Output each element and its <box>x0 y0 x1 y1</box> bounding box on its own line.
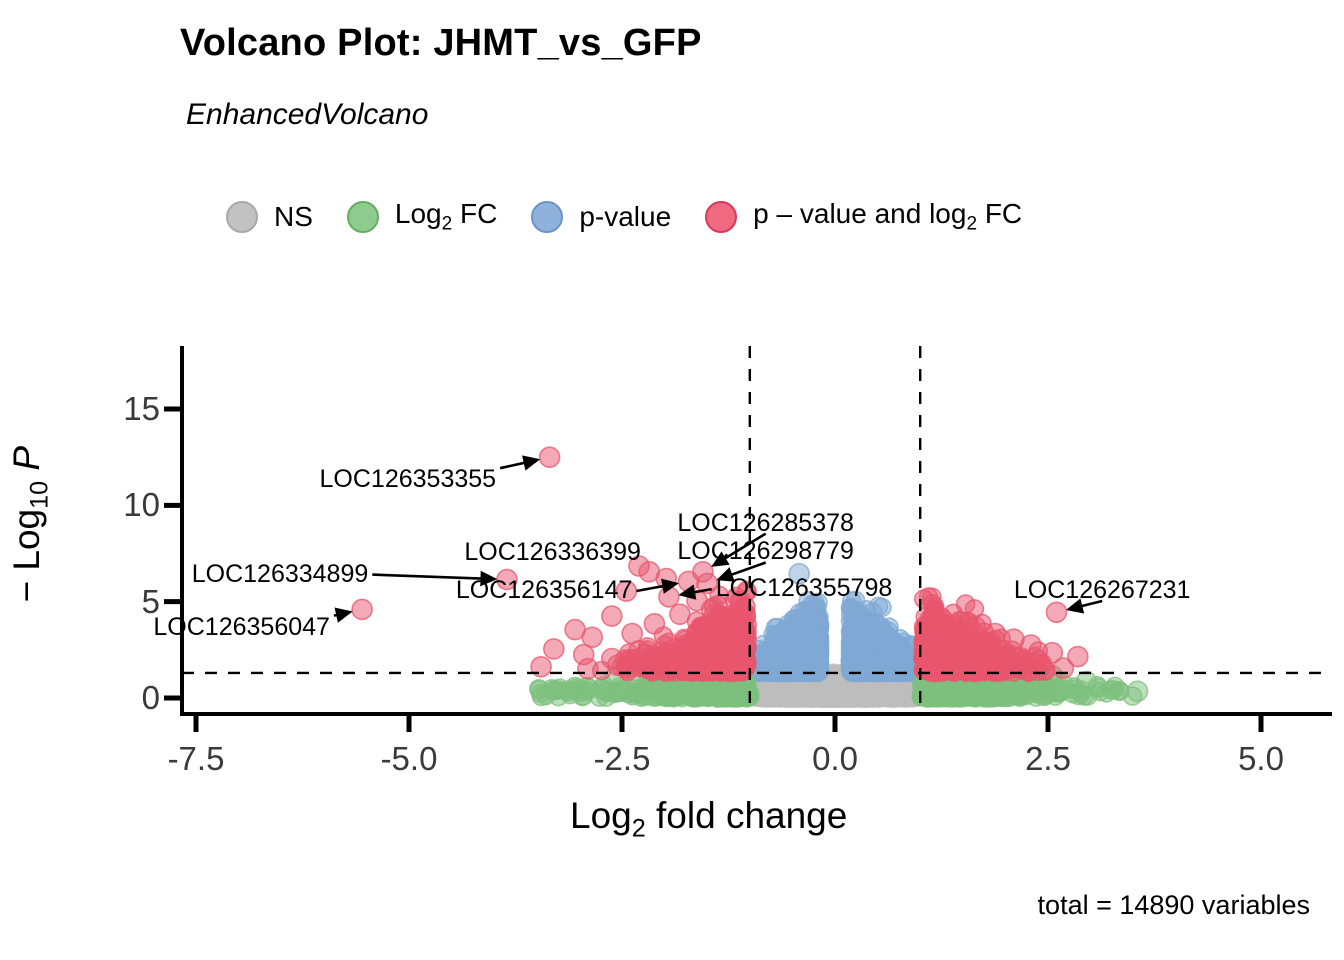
gene-label-LOC126334899: LOC126334899 <box>192 560 369 589</box>
gene-label-LOC126298779: LOC126298779 <box>677 537 854 566</box>
x-axis-title: Log2 fold change <box>570 795 847 843</box>
gene-label-LOC126267231: LOC126267231 <box>1014 576 1191 605</box>
x-tick-label-3: 0.0 <box>812 740 858 778</box>
gene-label-LOC126356047: LOC126356047 <box>153 613 330 642</box>
volcano-plot-figure: Volcano Plot: JHMT_vs_GFP EnhancedVolcan… <box>0 0 1344 960</box>
x-tick-label-5: 5.0 <box>1238 740 1284 778</box>
x-tick-label-4: 2.5 <box>1025 740 1071 778</box>
y-tick-label-0: 0 <box>110 679 160 717</box>
x-tick-label-0: -7.5 <box>168 740 225 778</box>
gene-label-LOC126356147: LOC126356147 <box>456 576 633 605</box>
gene-label-LOC126353355: LOC126353355 <box>320 465 497 494</box>
gene-label-LOC126355798: LOC126355798 <box>716 574 893 603</box>
gene-label-LOC126336399: LOC126336399 <box>464 538 641 567</box>
gene-label-LOC126285378: LOC126285378 <box>677 509 854 538</box>
total-variables-annotation: total = 14890 variables <box>1038 890 1310 921</box>
y-axis-title: − Log10 P <box>6 446 54 603</box>
y-tick-label-2: 10 <box>110 486 160 524</box>
x-tick-label-2: -2.5 <box>594 740 651 778</box>
y-tick-label-3: 15 <box>110 390 160 428</box>
x-tick-label-1: -5.0 <box>381 740 438 778</box>
